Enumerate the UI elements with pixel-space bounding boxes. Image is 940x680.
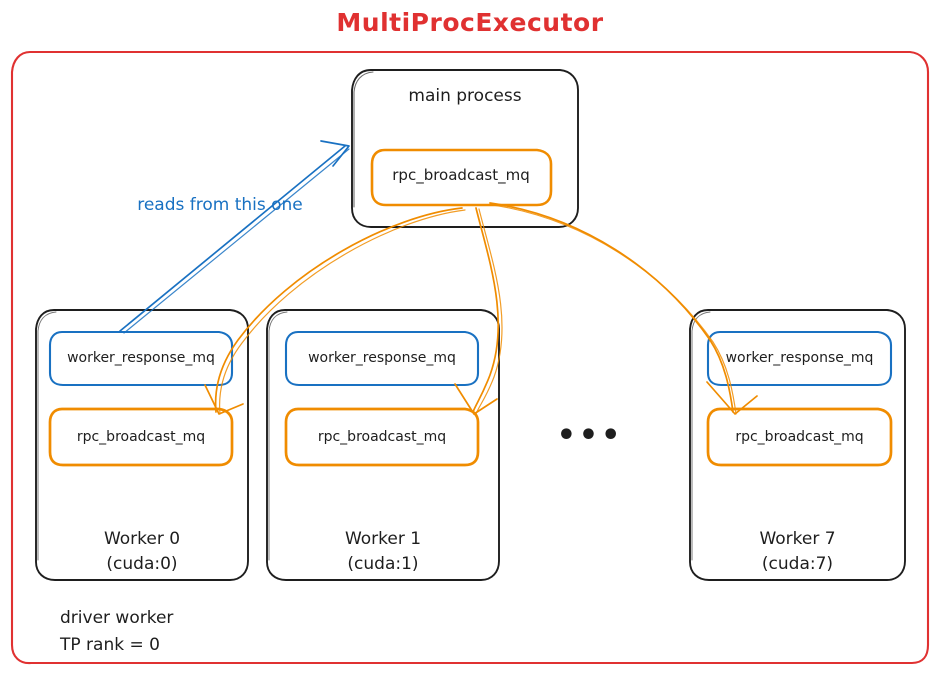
worker-1-broadcast-queue-box — [286, 409, 478, 465]
reads-from-arrow — [120, 141, 349, 333]
worker-7-broadcast-queue-box — [708, 409, 891, 465]
worker-7-response-queue-box — [708, 332, 891, 385]
diagram-sketch-layer — [0, 0, 940, 680]
worker-0-broadcast-queue-box — [50, 409, 232, 465]
worker-1-response-queue-box — [286, 332, 478, 385]
worker-0-response-queue-box — [50, 332, 232, 385]
diagram-canvas: MultiProcExecutor main process rpc_broad… — [0, 0, 940, 680]
main-broadcast-queue-box — [372, 150, 551, 205]
